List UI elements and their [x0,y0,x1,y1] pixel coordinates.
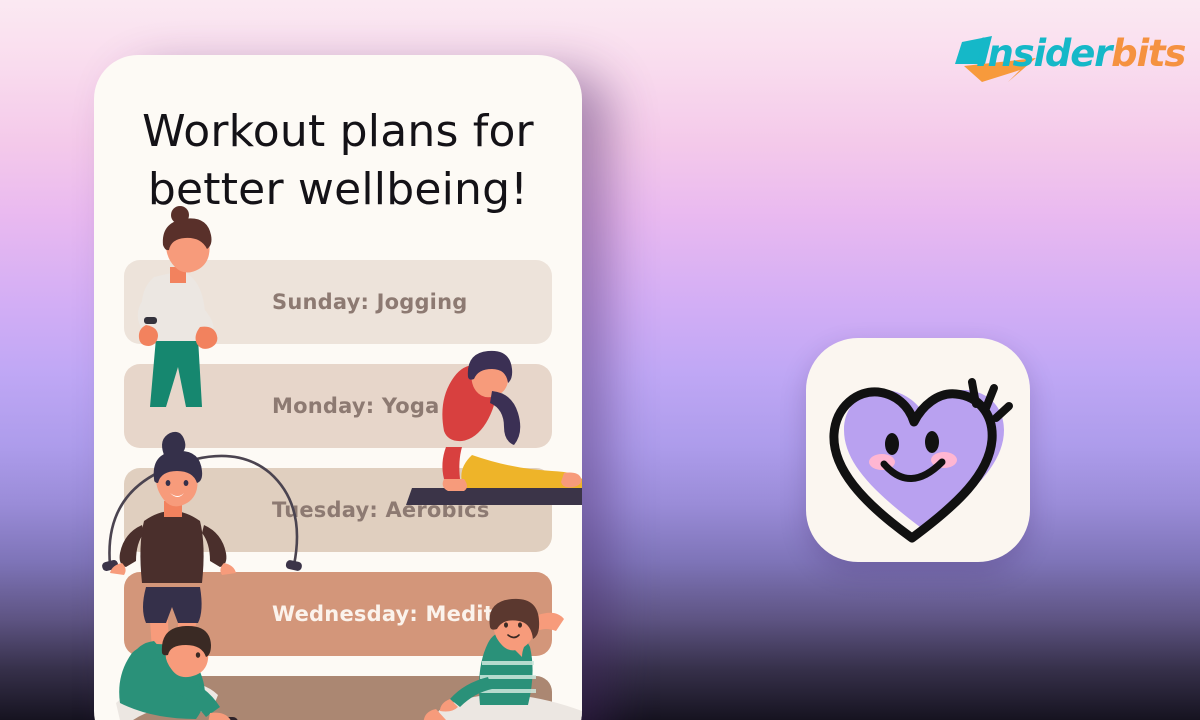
page-title-line-2: better wellbeing! [128,161,548,219]
list-item-label: Tuesday: Aerobics [272,498,490,522]
eye-left-icon [885,433,899,455]
logo-wordmark: insiderbits [976,32,1185,75]
page-title: Workout plans for better wellbeing! [94,55,582,219]
list-item-wednesday[interactable]: Wednesday: Meditate [124,572,552,656]
smiling-heart-app-icon[interactable] [806,338,1030,562]
list-item-tuesday[interactable]: Tuesday: Aerobics [124,468,552,552]
logo-word-bits: bits [1111,32,1185,75]
list-item-label: Sunday: Jogging [272,290,467,314]
logo-word-insider: insider [976,32,1111,75]
list-item-partial[interactable] [124,676,552,720]
workout-plan-list: Sunday: Jogging Monday: Yoga Tuesday: Ae… [94,260,582,720]
page-title-line-1: Workout plans for [128,103,548,161]
list-item-monday[interactable]: Monday: Yoga [124,364,552,448]
list-item-label: Monday: Yoga [272,394,440,418]
insiderbits-logo: insiderbits [952,20,1167,88]
poster-canvas: Workout plans for better wellbeing! Sund… [0,0,1200,720]
list-item-label: Wednesday: Meditate [272,602,533,626]
list-item-sunday[interactable]: Sunday: Jogging [124,260,552,344]
phone-screen-card: Workout plans for better wellbeing! Sund… [94,55,582,720]
eye-right-icon [925,431,939,453]
